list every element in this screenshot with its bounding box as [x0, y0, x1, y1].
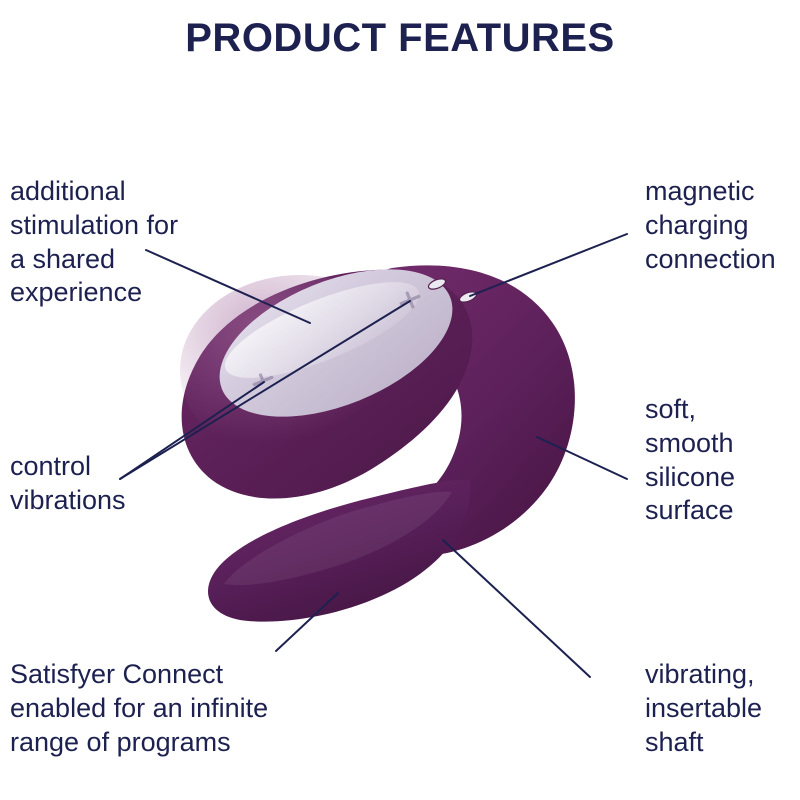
magnetic-charging-contacts — [427, 277, 478, 305]
callout-additional-stimulation: additional stimulation for a shared expe… — [10, 175, 270, 310]
product-arm-highlight — [224, 492, 452, 585]
leader-line-magnetic — [470, 234, 627, 296]
page-title: PRODUCT FEATURES — [0, 16, 800, 61]
control-plus-icon[interactable] — [396, 288, 423, 313]
callout-vibrating-insertable-shaft: vibrating, insertable shaft — [645, 658, 800, 759]
callout-control-vibrations: control vibrations — [10, 450, 250, 518]
callout-satisfyer-connect: Satisfyer Connect enabled for an infinit… — [10, 658, 350, 759]
leader-line-vibrating — [443, 540, 590, 677]
charging-contact-icon — [427, 277, 447, 292]
charging-contact-icon — [458, 290, 478, 305]
leader-line-soft — [537, 437, 627, 479]
product-outer-wing — [355, 265, 575, 556]
callout-soft-silicone-surface: soft, smooth silicone surface — [645, 393, 800, 528]
leader-line-connect — [276, 593, 338, 651]
callout-magnetic-charging: magnetic charging connection — [645, 175, 800, 276]
product-features-infographic: PRODUCT FEATURES — [0, 0, 800, 800]
control-minus-icon[interactable] — [250, 369, 274, 386]
